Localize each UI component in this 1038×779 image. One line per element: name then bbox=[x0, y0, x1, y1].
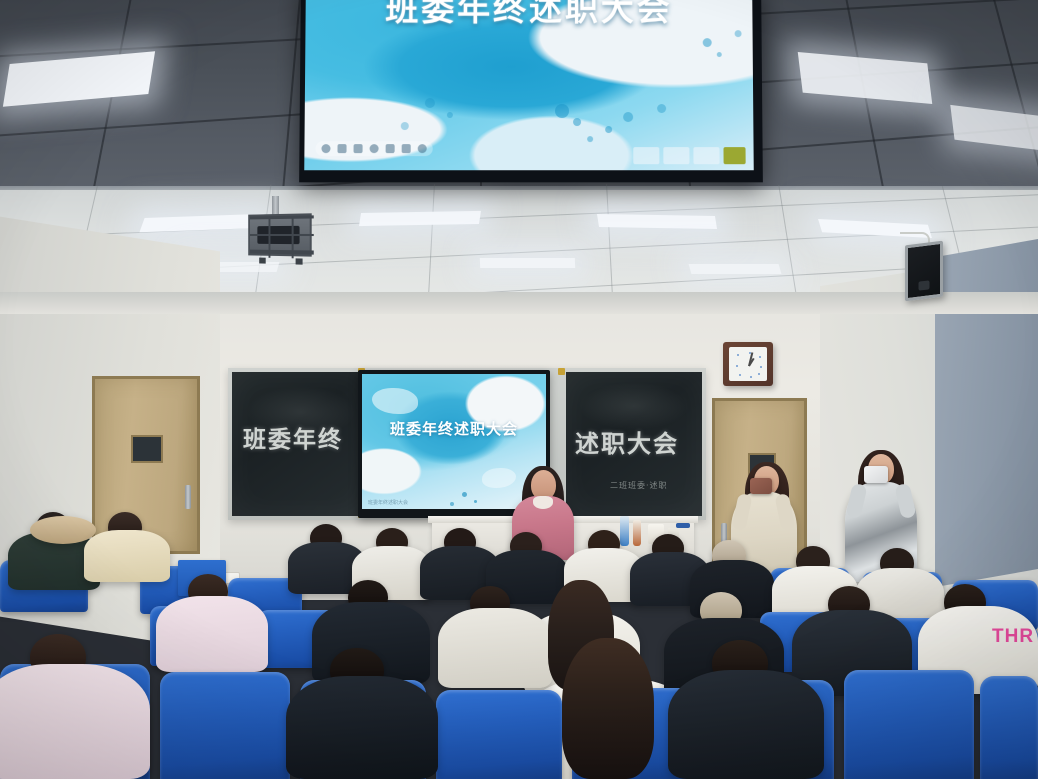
watercolor-droplet bbox=[401, 122, 409, 130]
audience-hair-long bbox=[562, 638, 654, 779]
tv-screen-content: 班委年终述职大会 班委年终述职大会 bbox=[362, 374, 546, 509]
audience-body bbox=[668, 670, 824, 779]
presenter-collar bbox=[533, 496, 553, 509]
watercolor-droplet bbox=[573, 118, 581, 126]
window-item-1[interactable] bbox=[633, 147, 659, 164]
ceiling-light-panel bbox=[480, 258, 575, 268]
projection-screen-content: 班委年终述职大会 bbox=[304, 0, 753, 170]
wall-top-trim bbox=[0, 292, 1038, 314]
board-corner-clip bbox=[558, 368, 565, 375]
window-item-4[interactable] bbox=[723, 147, 745, 164]
audience-fur-hood bbox=[30, 516, 96, 544]
door-handle[interactable] bbox=[185, 485, 191, 509]
ceiling-light-panel bbox=[359, 211, 481, 226]
audience-body bbox=[438, 608, 552, 688]
tv-footer-note: 班委年终述职大会 bbox=[368, 499, 408, 506]
eraser-icon[interactable] bbox=[386, 144, 395, 153]
door-sign-plate bbox=[131, 435, 163, 463]
large-projection-screen[interactable]: 班委年终述职大会 bbox=[299, 0, 763, 182]
watercolor-droplet bbox=[555, 104, 569, 118]
blackboard-text-left: 班委年终 bbox=[243, 420, 343, 454]
blackboard-panel-left: 班委年终 bbox=[232, 372, 367, 516]
watercolor-droplet bbox=[425, 98, 435, 108]
watercolor-droplet bbox=[587, 136, 593, 142]
select-icon[interactable] bbox=[337, 144, 346, 153]
right-wall-blue-panel bbox=[935, 236, 1038, 587]
marker-pen[interactable] bbox=[676, 523, 690, 528]
lecture-chair[interactable] bbox=[844, 670, 974, 779]
window-item-3[interactable] bbox=[693, 147, 719, 164]
lecture-chair[interactable] bbox=[160, 672, 290, 779]
ceiling-projector bbox=[248, 213, 312, 256]
wall-clock bbox=[723, 342, 773, 386]
audience-body bbox=[0, 664, 150, 779]
watercolor-droplet bbox=[703, 38, 712, 47]
blackboard-text-right: 述职大会 bbox=[575, 424, 679, 459]
undo-icon[interactable] bbox=[321, 144, 330, 153]
watercolor-droplet bbox=[447, 112, 453, 118]
water-bottle[interactable] bbox=[633, 520, 641, 546]
collapse-icon[interactable] bbox=[418, 144, 427, 153]
lecture-chair[interactable] bbox=[436, 690, 562, 779]
ceiling-light-panel bbox=[597, 214, 717, 229]
water-bottle[interactable] bbox=[620, 516, 629, 546]
window-item-2[interactable] bbox=[663, 147, 689, 164]
tv-title-text: 班委年终述职大会 bbox=[362, 418, 546, 439]
watercolor-droplet bbox=[605, 126, 612, 133]
shapes-icon[interactable] bbox=[370, 144, 379, 153]
audience-body bbox=[84, 530, 170, 582]
watercolor-droplet bbox=[623, 112, 633, 122]
os-taskbar[interactable] bbox=[633, 147, 745, 164]
blackboard-panel-right: 述职大会 二班班委·述职 bbox=[566, 372, 702, 516]
jacket-graphic-text: THR bbox=[992, 626, 1034, 648]
phone-camera[interactable] bbox=[750, 478, 772, 494]
clock-face bbox=[729, 347, 767, 381]
settings-icon[interactable] bbox=[402, 144, 411, 153]
presentation-toolbar[interactable] bbox=[315, 141, 432, 156]
classroom-photo-scene: 班委年终述职大会 bbox=[0, 0, 1038, 779]
audience-body bbox=[156, 596, 268, 672]
phone-camera[interactable] bbox=[864, 466, 888, 483]
lecture-chair[interactable] bbox=[980, 676, 1038, 779]
projection-title-text: 班委年终述职大会 bbox=[305, 0, 752, 30]
watercolor-droplet bbox=[717, 52, 722, 57]
ceiling-light-panel bbox=[689, 264, 782, 274]
pen-icon[interactable] bbox=[354, 144, 363, 153]
speaker-cone-icon bbox=[919, 280, 930, 290]
watercolor-droplet bbox=[735, 30, 742, 37]
audience-body bbox=[286, 676, 438, 779]
watercolor-droplet bbox=[657, 104, 666, 113]
wall-speaker bbox=[905, 241, 943, 302]
blackboard-subtext-right: 二班班委·述职 bbox=[610, 480, 668, 491]
